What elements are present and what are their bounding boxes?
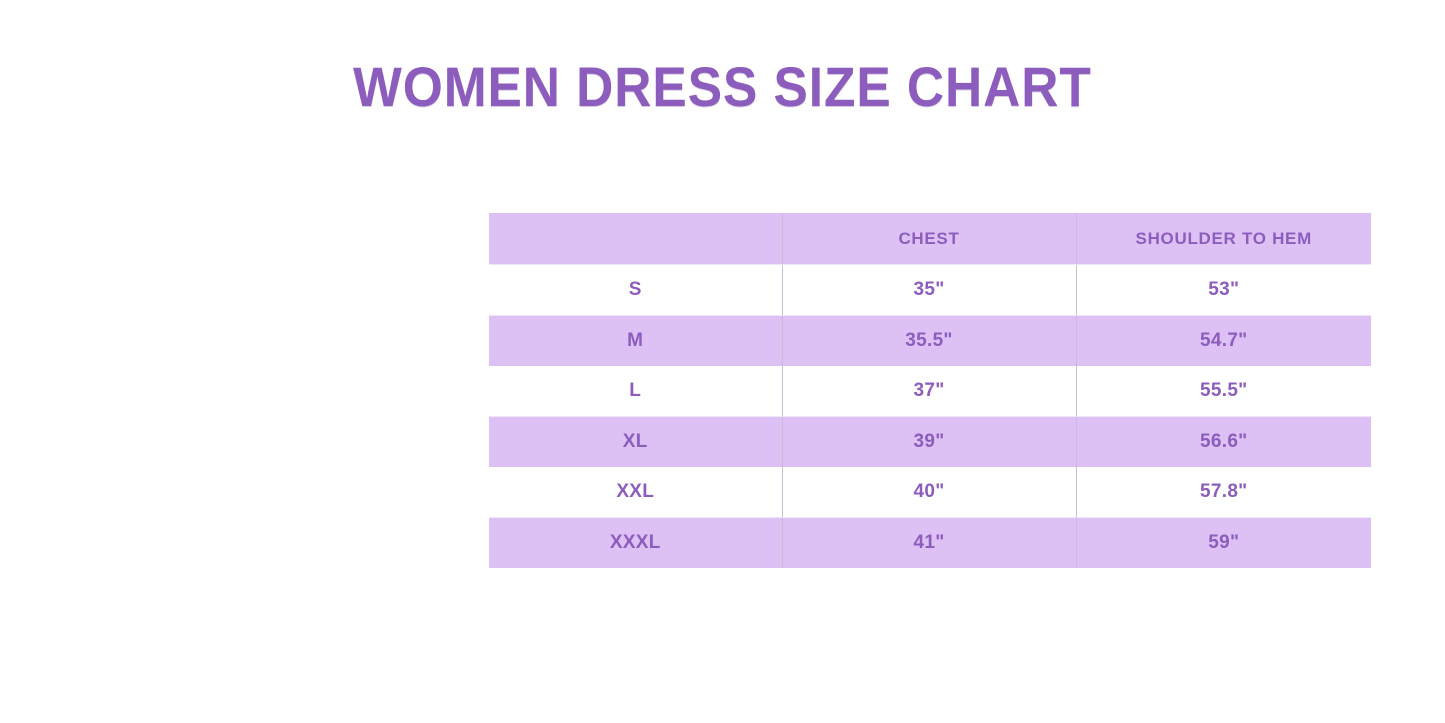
column-header-size [489,213,782,265]
table-row: XXXL 41" 59" [489,518,1371,569]
size-chart-table: CHEST SHOULDER TO HEM S 35" 53" M 35.5" … [489,213,1371,568]
table-body: S 35" 53" M 35.5" 54.7" L 37" 55.5" XL 3… [489,265,1371,569]
table-row: XL 39" 56.6" [489,417,1371,468]
cell-size: L [489,366,782,417]
cell-shoulder-to-hem: 59" [1076,518,1371,569]
cell-size: M [489,316,782,367]
cell-chest: 39" [782,417,1076,468]
column-header-shoulder-to-hem: SHOULDER TO HEM [1076,213,1371,265]
cell-size: S [489,265,782,316]
cell-shoulder-to-hem: 56.6" [1076,417,1371,468]
cell-chest: 35.5" [782,316,1076,367]
table-header-row: CHEST SHOULDER TO HEM [489,213,1371,265]
cell-chest: 37" [782,366,1076,417]
table-row: XXL 40" 57.8" [489,467,1371,518]
cell-shoulder-to-hem: 55.5" [1076,366,1371,417]
table-row: M 35.5" 54.7" [489,316,1371,367]
table-row: S 35" 53" [489,265,1371,316]
size-chart-page: WOMEN DRESS SIZE CHART CHEST SHOULDER TO… [0,0,1445,723]
cell-chest: 40" [782,467,1076,518]
table-header: CHEST SHOULDER TO HEM [489,213,1371,265]
table-row: L 37" 55.5" [489,366,1371,417]
cell-size: XXXL [489,518,782,569]
page-title: WOMEN DRESS SIZE CHART [58,58,1387,117]
cell-size: XL [489,417,782,468]
cell-shoulder-to-hem: 54.7" [1076,316,1371,367]
cell-chest: 35" [782,265,1076,316]
cell-size: XXL [489,467,782,518]
cell-chest: 41" [782,518,1076,569]
cell-shoulder-to-hem: 57.8" [1076,467,1371,518]
cell-shoulder-to-hem: 53" [1076,265,1371,316]
column-header-chest: CHEST [782,213,1076,265]
